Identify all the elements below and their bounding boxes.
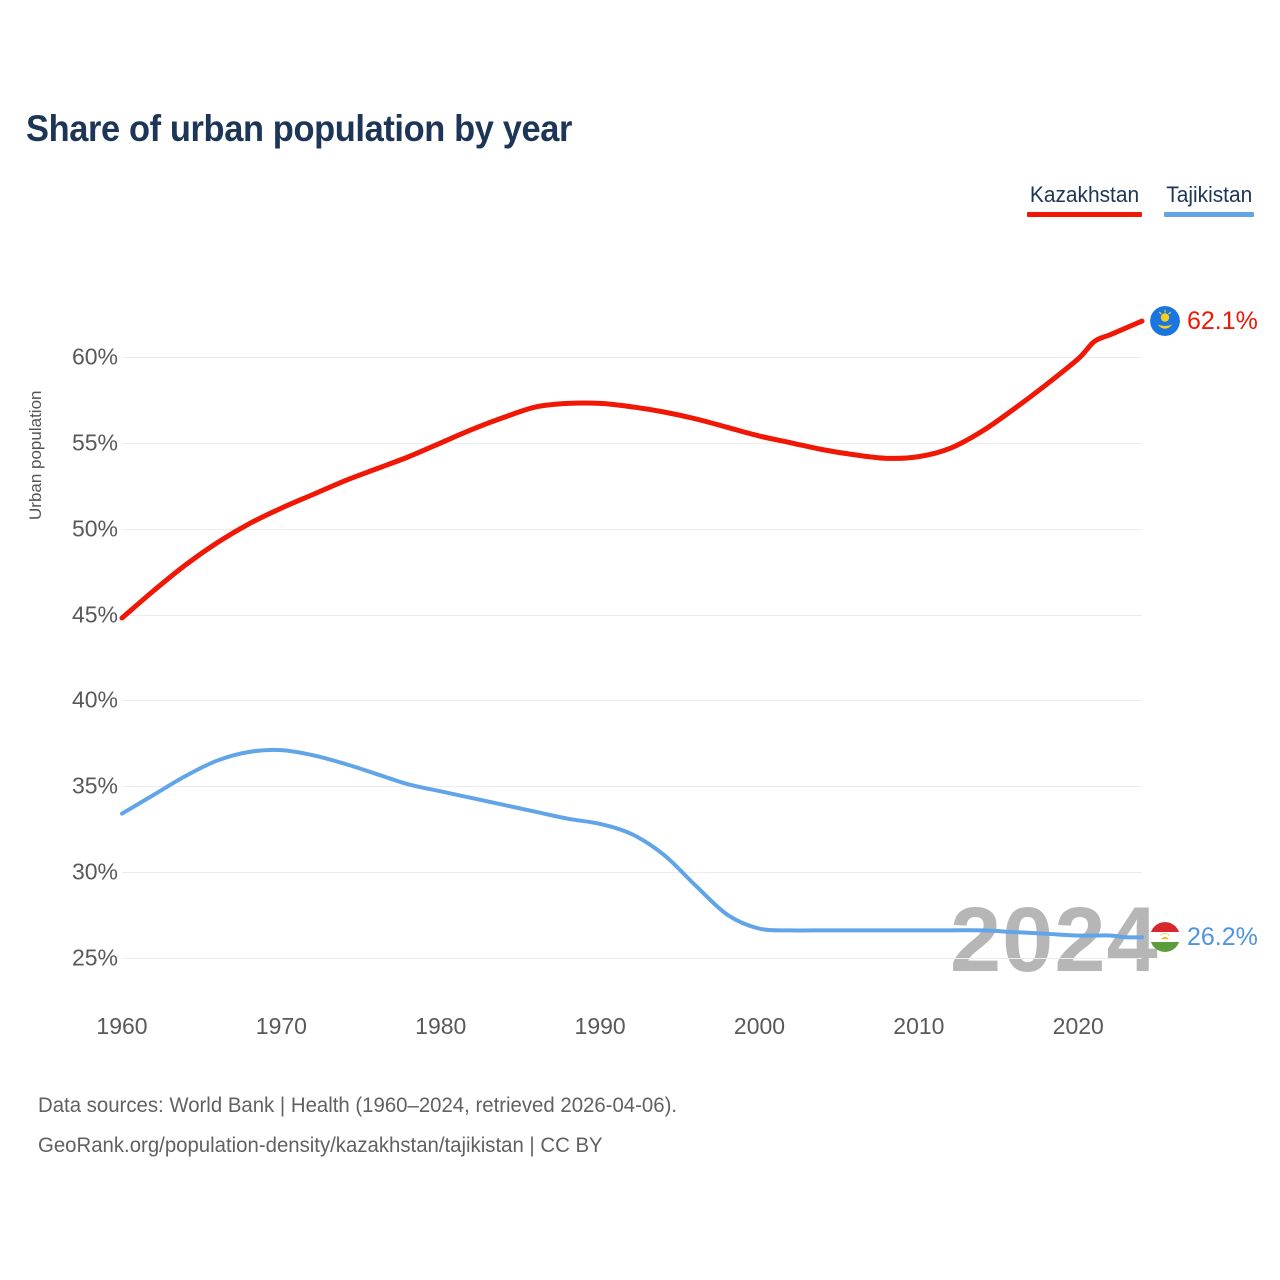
kazakhstan-endpoint: 62.1% [1150,306,1258,336]
tajikistan-endpoint-value: 26.2% [1187,923,1258,952]
kazakhstan-endpoint-value: 62.1% [1187,307,1258,336]
footer-line-2: GeoRank.org/population-density/kazakhsta… [38,1126,677,1166]
footer-line-1: Data sources: World Bank | Health (1960–… [38,1086,677,1126]
kazakhstan-flag-icon [1150,306,1180,336]
tajikistan-endpoint: 26.2% [1150,922,1258,952]
series-line-tajikistan [122,750,1142,937]
chart-page: Share of urban population by year Kazakh… [0,0,1280,1280]
series-line-kazakhstan [122,321,1142,618]
tajikistan-flag-icon [1150,922,1180,952]
footer-credits: Data sources: World Bank | Health (1960–… [38,1086,677,1166]
